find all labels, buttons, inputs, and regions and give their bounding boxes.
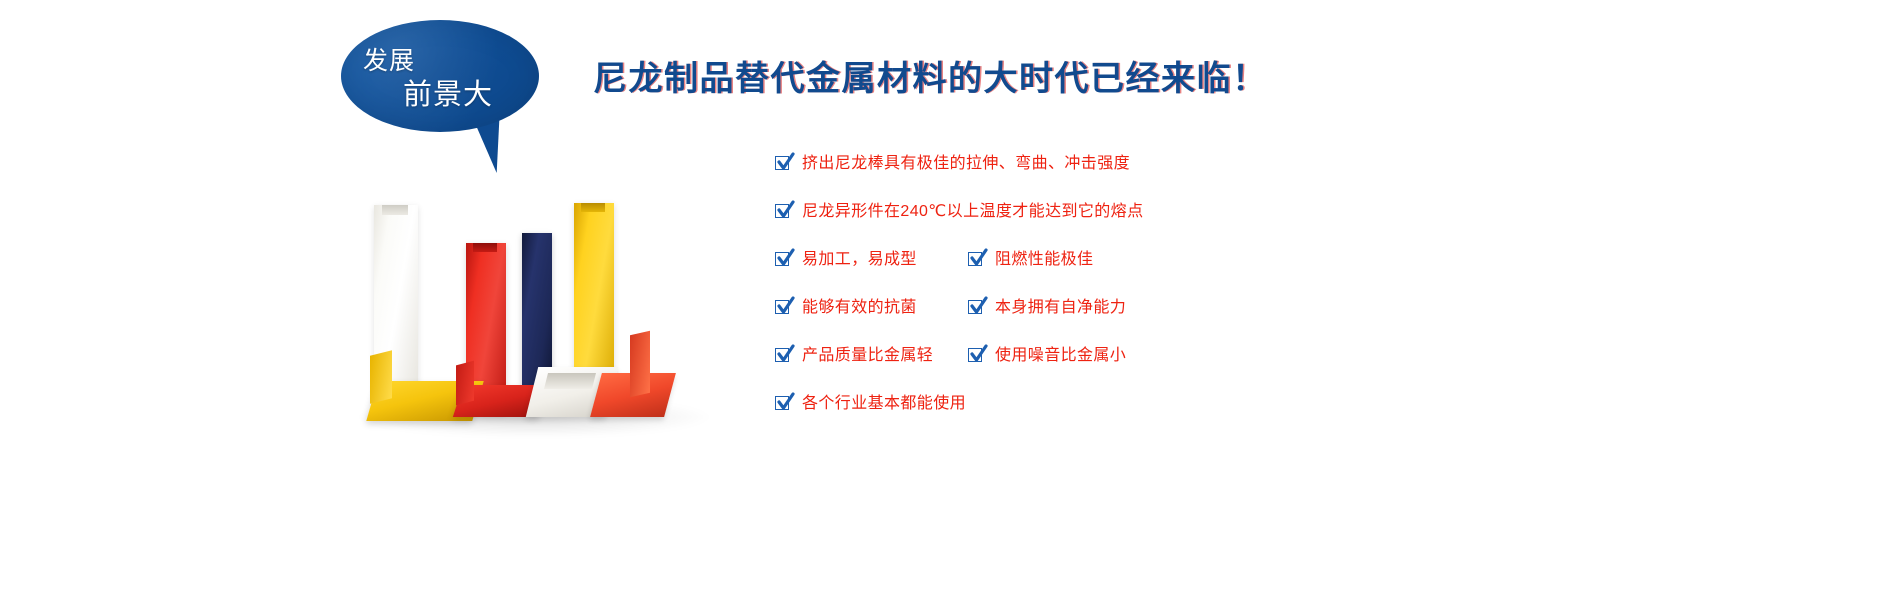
feature-label: 各个行业基本都能使用 xyxy=(802,396,966,412)
feature-item: 挤出尼龙棒具有极佳的拉伸、弯曲、冲击强度 xyxy=(775,155,1130,172)
feature-label: 使用噪音比金属小 xyxy=(995,348,1126,364)
white-u-profile-inner xyxy=(382,205,408,215)
feature-label: 阻燃性能极佳 xyxy=(995,252,1093,268)
feature-row: 挤出尼龙棒具有极佳的拉伸、弯曲、冲击强度 xyxy=(775,155,1395,203)
feature-item: 各个行业基本都能使用 xyxy=(775,395,966,412)
product-photo xyxy=(330,185,730,475)
check-box-icon xyxy=(775,347,792,364)
check-box-icon xyxy=(968,347,985,364)
feature-item: 易加工，易成型 xyxy=(775,251,917,268)
feature-label: 产品质量比金属轻 xyxy=(802,348,933,364)
check-box-icon xyxy=(775,251,792,268)
feature-item: 使用噪音比金属小 xyxy=(968,347,1126,364)
feature-label: 能够有效的抗菌 xyxy=(802,300,917,316)
feature-list: 挤出尼龙棒具有极佳的拉伸、弯曲、冲击强度 尼龙异形件在240℃以上温度才能达到它… xyxy=(775,155,1395,443)
feature-item: 尼龙异形件在240℃以上温度才能达到它的熔点 xyxy=(775,203,1143,220)
feature-row: 易加工，易成型 阻燃性能极佳 xyxy=(775,251,1395,299)
check-box-icon xyxy=(968,299,985,316)
orange-l-angle-wall xyxy=(630,331,650,398)
speech-bubble: 发展 前景大 xyxy=(341,20,551,165)
check-box-icon xyxy=(775,299,792,316)
feature-row: 产品质量比金属轻 使用噪音比金属小 xyxy=(775,347,1395,395)
speech-bubble-line-2: 前景大 xyxy=(403,78,493,112)
yellow-u-profile xyxy=(574,203,614,393)
feature-item: 阻燃性能极佳 xyxy=(968,251,1093,268)
feature-label: 本身拥有自净能力 xyxy=(995,300,1126,316)
speech-bubble-text: 发展 前景大 xyxy=(341,20,539,132)
feature-item: 能够有效的抗菌 xyxy=(775,299,917,316)
speech-bubble-line-1: 发展 xyxy=(363,47,415,77)
feature-label: 尼龙异形件在240℃以上温度才能达到它的熔点 xyxy=(802,204,1143,220)
red-l-angle-wall xyxy=(456,361,474,406)
feature-row: 各个行业基本都能使用 xyxy=(775,395,1395,443)
check-box-icon xyxy=(775,203,792,220)
red-u-profile-inner xyxy=(473,243,497,252)
check-box-icon xyxy=(968,251,985,268)
feature-label: 挤出尼龙棒具有极佳的拉伸、弯曲、冲击强度 xyxy=(802,156,1130,172)
yellow-u-profile-inner xyxy=(581,203,605,212)
check-box-icon xyxy=(775,395,792,412)
headline: 尼龙制品替代金属材料的大时代已经来临！ xyxy=(593,51,1268,100)
promo-banner: 发展 前景大 尼龙制品替代金属材料的大时代已经来临！ 挤出尼龙棒具有极佳的拉伸、… xyxy=(0,0,1902,592)
feature-row: 能够有效的抗菌 本身拥有自净能力 xyxy=(775,299,1395,347)
feature-item: 本身拥有自净能力 xyxy=(968,299,1126,316)
check-box-icon xyxy=(775,155,792,172)
yellow-l-angle-wall xyxy=(370,350,392,403)
feature-row: 尼龙异形件在240℃以上温度才能达到它的熔点 xyxy=(775,203,1395,251)
feature-item: 产品质量比金属轻 xyxy=(775,347,933,364)
feature-label: 易加工，易成型 xyxy=(802,252,917,268)
white-u-channel-groove xyxy=(544,373,596,389)
